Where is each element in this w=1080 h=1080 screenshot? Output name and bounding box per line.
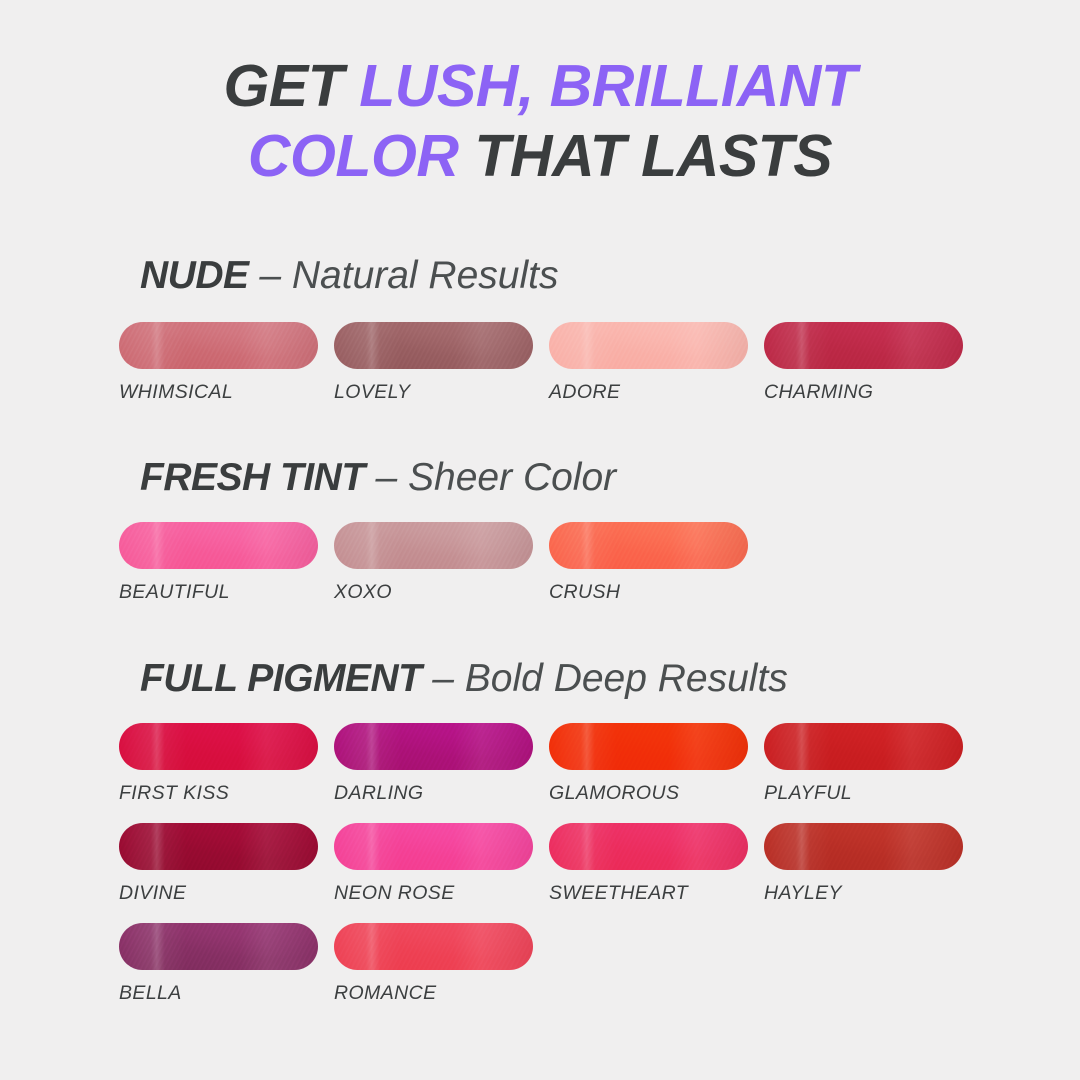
page-title-dark-1: GET [224,53,360,119]
swatch-color-chip[interactable] [119,723,318,770]
swatch-label: DIVINE [119,882,318,905]
swatch-item-divine[interactable]: DIVINE [119,823,318,905]
swatch-label: GLAMOROUS [549,782,748,805]
swatch-row: WHIMSICALLOVELYADORECHARMING [119,322,1019,418]
swatch-color-chip[interactable] [119,923,318,970]
swatch-color-chip[interactable] [764,723,963,770]
swatch-item-darling[interactable]: DARLING [334,723,533,805]
swatch-color-chip[interactable] [334,322,533,369]
swatch-label: SWEETHEART [549,882,748,905]
swatch-color-chip[interactable] [119,322,318,369]
lipstick-shade-chart: GET LUSH, BRILLIANT COLOR THAT LASTS NUD… [0,0,1080,1080]
swatch-color-chip[interactable] [549,723,748,770]
section-heading-full-pigment: FULL PIGMENT – Bold Deep Results [140,659,788,698]
swatch-item-playful[interactable]: PLAYFUL [764,723,963,805]
swatch-label: FIRST KISS [119,782,318,805]
swatch-label: LOVELY [334,381,533,404]
page-title-accent-1: LUSH, BRILLIANT [359,53,856,119]
swatch-color-chip[interactable] [764,322,963,369]
swatch-label: CHARMING [764,381,963,404]
swatch-item-sweetheart[interactable]: SWEETHEART [549,823,748,905]
section-subtitle-fresh-tint: – Sheer Color [365,456,616,499]
swatch-color-chip[interactable] [334,522,533,569]
swatch-item-beautiful[interactable]: BEAUTIFUL [119,522,318,604]
swatch-row: DIVINENEON ROSESWEETHEARTHAYLEY [119,823,1019,919]
swatch-row: BELLAROMANCE [119,923,1019,1019]
section-subtitle-full-pigment: – Bold Deep Results [421,657,787,700]
page-title-dark-2: THAT LASTS [474,123,832,189]
swatch-row: FIRST KISSDARLINGGLAMOROUSPLAYFUL [119,723,1019,819]
swatch-item-glamorous[interactable]: GLAMOROUS [549,723,748,805]
swatch-color-chip[interactable] [334,823,533,870]
swatch-color-chip[interactable] [549,322,748,369]
swatch-item-romance[interactable]: ROMANCE [334,923,533,1005]
swatch-item-adore[interactable]: ADORE [549,322,748,404]
swatch-item-lovely[interactable]: LOVELY [334,322,533,404]
swatch-label: XOXO [334,581,533,604]
swatch-item-whimsical[interactable]: WHIMSICAL [119,322,318,404]
page-title-line-2: COLOR THAT LASTS [0,122,1080,192]
section-heading-nude: NUDE – Natural Results [140,256,558,295]
swatch-label: ADORE [549,381,748,404]
section-title-full-pigment: FULL PIGMENT [140,657,421,700]
swatch-color-chip[interactable] [119,522,318,569]
swatch-item-charming[interactable]: CHARMING [764,322,963,404]
page-title-line-1: GET LUSH, BRILLIANT [0,52,1080,122]
swatch-color-chip[interactable] [764,823,963,870]
swatch-label: WHIMSICAL [119,381,318,404]
page-title: GET LUSH, BRILLIANT COLOR THAT LASTS [0,52,1080,191]
swatch-item-xoxo[interactable]: XOXO [334,522,533,604]
swatch-color-chip[interactable] [334,923,533,970]
section-heading-fresh-tint: FRESH TINT – Sheer Color [140,458,616,497]
swatch-item-first-kiss[interactable]: FIRST KISS [119,723,318,805]
swatch-item-bella[interactable]: BELLA [119,923,318,1005]
page-title-accent-2: COLOR [248,123,474,189]
swatch-label: BEAUTIFUL [119,581,318,604]
swatch-label: DARLING [334,782,533,805]
section-subtitle-nude: – Natural Results [249,254,559,297]
swatch-item-hayley[interactable]: HAYLEY [764,823,963,905]
section-title-fresh-tint: FRESH TINT [140,456,365,499]
swatch-label: BELLA [119,982,318,1005]
swatch-label: ROMANCE [334,982,533,1005]
swatch-label: CRUSH [549,581,748,604]
swatch-color-chip[interactable] [119,823,318,870]
swatch-color-chip[interactable] [334,723,533,770]
swatch-color-chip[interactable] [549,823,748,870]
swatch-item-neon-rose[interactable]: NEON ROSE [334,823,533,905]
swatch-label: NEON ROSE [334,882,533,905]
swatch-label: PLAYFUL [764,782,963,805]
swatch-row: BEAUTIFULXOXOCRUSH [119,522,1019,618]
swatch-color-chip[interactable] [549,522,748,569]
section-title-nude: NUDE [140,254,249,297]
swatch-label: HAYLEY [764,882,963,905]
swatch-item-crush[interactable]: CRUSH [549,522,748,604]
